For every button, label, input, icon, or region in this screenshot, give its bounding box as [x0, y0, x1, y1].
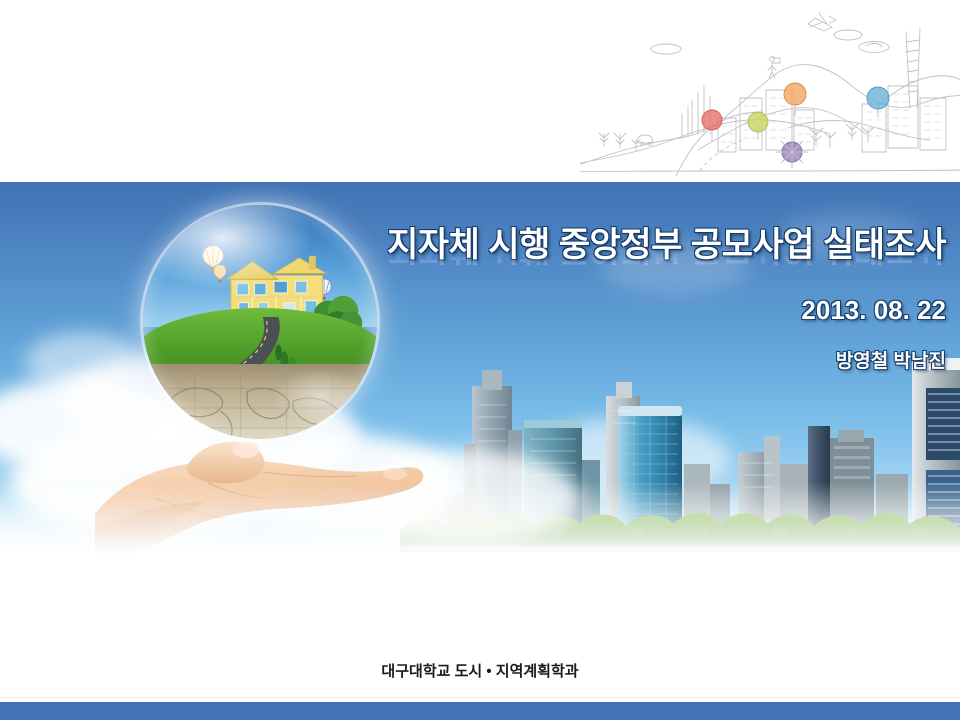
title-block: 지자체 시행 중앙정부 공모사업 실태조사 지자체 시행 중앙정부 공모사업 실… [387, 228, 946, 373]
page-title-reflection: 지자체 시행 중앙정부 공모사업 실태조사 [387, 253, 946, 265]
bottom-white-fade [0, 482, 960, 572]
footer-divider [0, 697, 960, 698]
glass-globe-icon [140, 202, 380, 442]
bottom-accent-bar [0, 702, 960, 720]
hero-photo-band: 지자체 시행 중앙정부 공모사업 실태조사 지자체 시행 중앙정부 공모사업 실… [0, 182, 960, 572]
presentation-date-reflection: 2013. 08. 22 [387, 316, 946, 326]
presentation-slide: 지자체 시행 중앙정부 공모사업 실태조사 지자체 시행 중앙정부 공모사업 실… [0, 0, 960, 720]
author-names: 방영철 박남진 [387, 346, 946, 373]
globe-sphere [140, 202, 380, 442]
footer-affiliation: 대구대학교 도시 • 지역계획학과 [0, 660, 960, 681]
city-lineart-illustration-icon [580, 0, 960, 182]
top-decoration-band [0, 0, 960, 182]
